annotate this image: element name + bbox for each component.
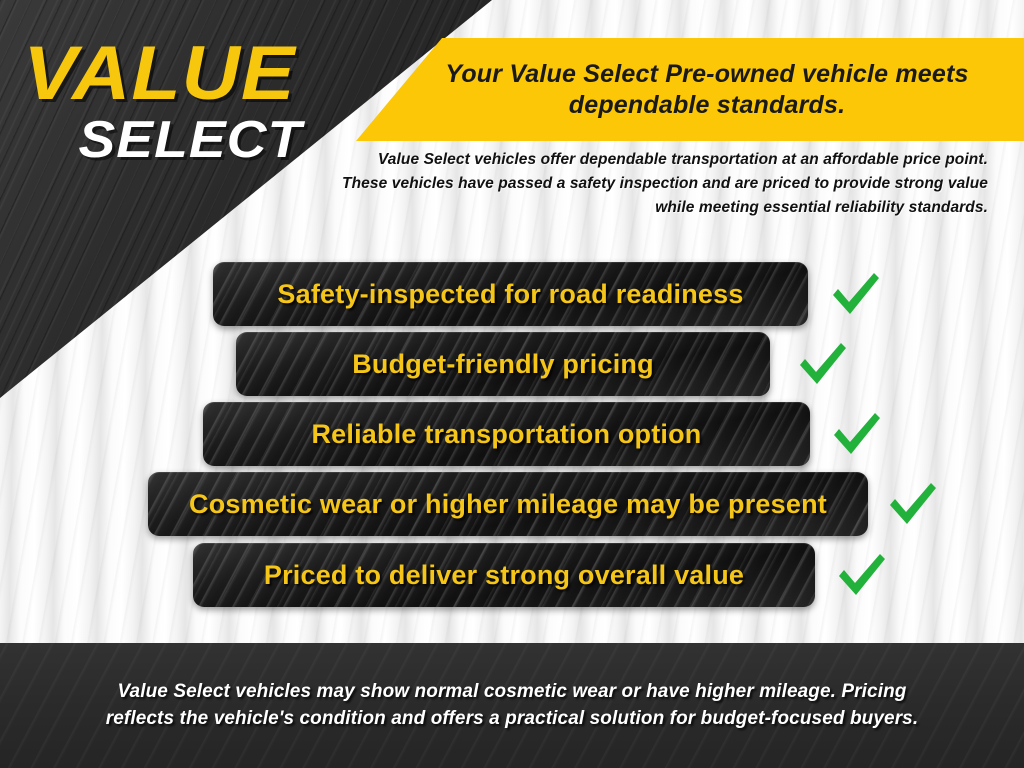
feature-label: Priced to deliver strong overall value [264,560,744,591]
headline-banner: Your Value Select Pre-owned vehicle meet… [330,38,1024,141]
headline-text: Your Value Select Pre-owned vehicle meet… [397,59,1017,120]
feature-row: Safety-inspected for road readiness [213,262,863,326]
feature-label: Safety-inspected for road readiness [277,279,743,310]
feature-row: Budget-friendly pricing [236,332,856,396]
feature-label: Reliable transportation option [311,419,701,450]
brand-logo: VALUE SELECT [0,38,360,166]
brand-logo-select: SELECT [0,114,382,166]
feature-bar: Cosmetic wear or higher mileage may be p… [148,472,868,536]
value-select-poster: VALUE SELECT Your Value Select Pre-owned… [0,0,1024,768]
feature-label: Cosmetic wear or higher mileage may be p… [189,489,827,520]
check-icon [831,547,889,603]
feature-bar: Reliable transportation option [203,402,810,466]
feature-bar: Safety-inspected for road readiness [213,262,808,326]
feature-row: Cosmetic wear or higher mileage may be p… [148,472,938,536]
feature-bar: Budget-friendly pricing [236,332,770,396]
check-icon [882,476,940,532]
check-icon [825,266,883,322]
feature-row: Reliable transportation option [203,402,868,466]
check-icon [826,406,884,462]
intro-paragraph: Value Select vehicles offer dependable t… [330,148,988,220]
feature-row: Priced to deliver strong overall value [193,543,873,607]
brand-logo-value: VALUE [0,38,382,110]
footer-disclaimer-text: Value Select vehicles may show normal co… [97,679,927,733]
feature-bar: Priced to deliver strong overall value [193,543,815,607]
footer-disclaimer-bar: Value Select vehicles may show normal co… [0,643,1024,768]
check-icon [792,336,850,392]
feature-label: Budget-friendly pricing [352,349,654,380]
